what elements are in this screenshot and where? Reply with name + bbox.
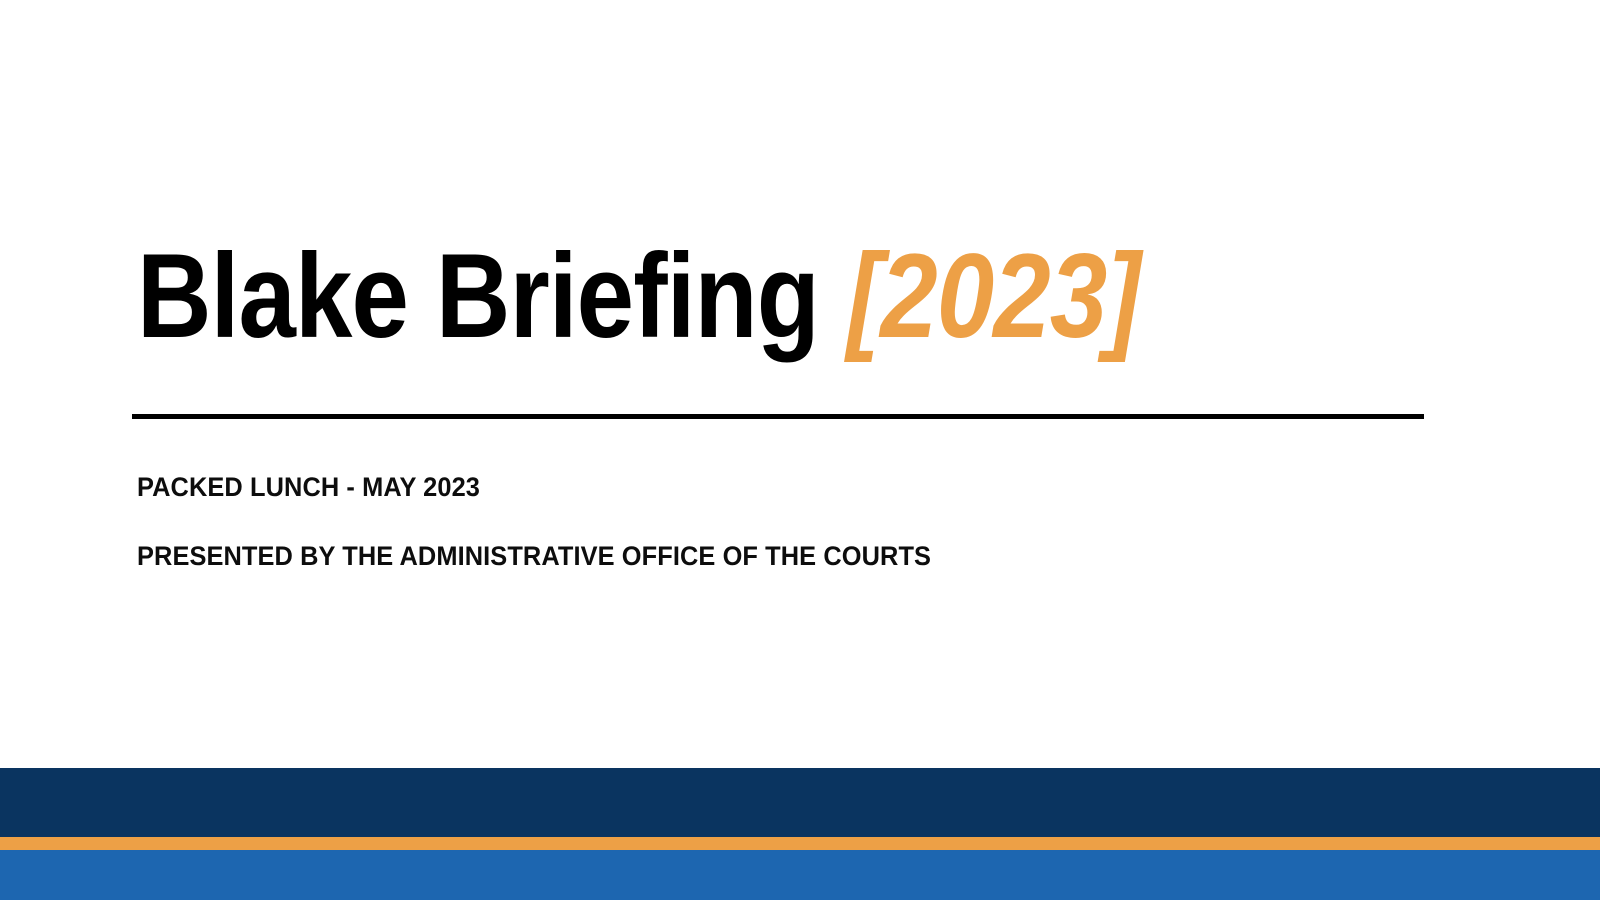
title-main-text: Blake Briefing	[137, 229, 847, 363]
footer-band-navy	[0, 768, 1600, 837]
title-divider-rule	[132, 414, 1424, 419]
subtitle-event-line: PACKED LUNCH - MAY 2023	[137, 472, 1350, 504]
subtitle-presenter-line: PRESENTED BY THE ADMINISTRATIVE OFFICE O…	[137, 541, 1350, 573]
title-accent-year: [2023]	[847, 229, 1140, 363]
footer-band-blue	[0, 850, 1600, 900]
footer-band-orange	[0, 837, 1600, 850]
subtitle-block: PACKED LUNCH - MAY 2023 PRESENTED BY THE…	[137, 472, 1427, 573]
slide-title: Blake Briefing [2023]	[137, 216, 1427, 356]
title-line: Blake Briefing [2023]	[137, 236, 1140, 356]
title-slide: Blake Briefing [2023] PACKED LUNCH - MAY…	[0, 0, 1600, 900]
